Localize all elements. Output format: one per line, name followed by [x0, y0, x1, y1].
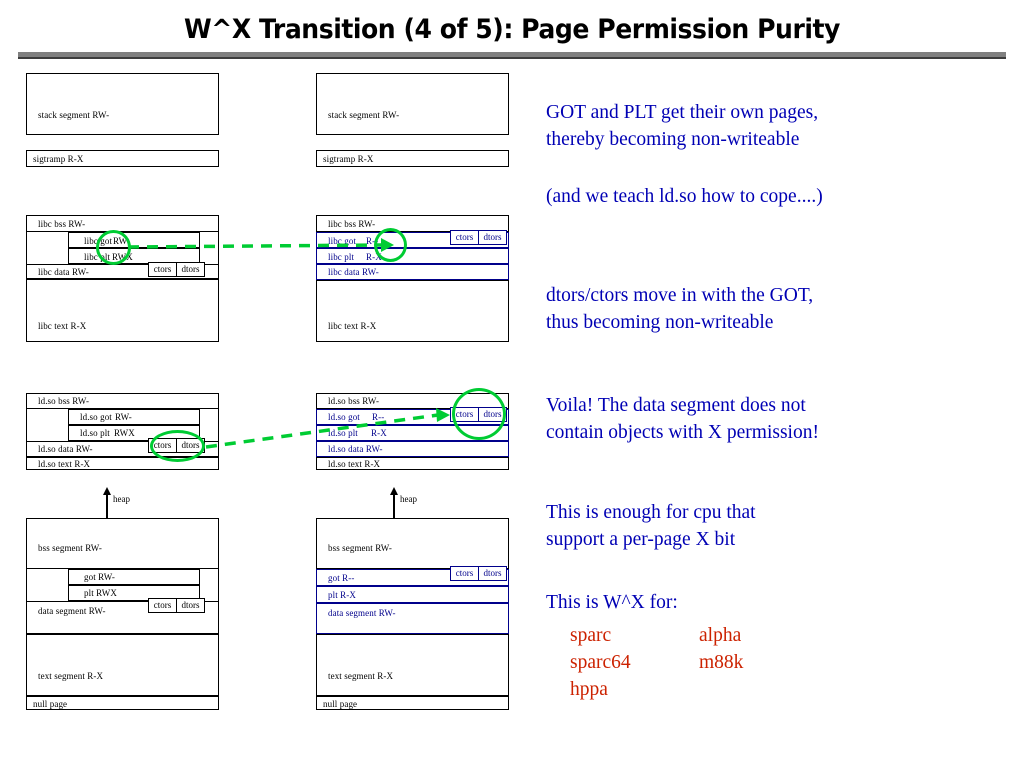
note-ldso: (and we teach ld.so how to cope....): [546, 183, 976, 210]
note-dtors-ctors: dtors/ctors move in with the GOT, thus b…: [546, 282, 976, 336]
arch-list-column-right: alpha m88k: [699, 622, 743, 676]
arch-list-column-left: sparc sparc64 hppa: [570, 622, 631, 703]
arrow-ldso-transition: [206, 408, 450, 447]
note-wx-for: This is W^X for:: [546, 589, 976, 616]
slide-canvas: W^X Transition (4 of 5): Page Permission…: [0, 0, 1024, 768]
note-cpu: This is enough for cpu that support a pe…: [546, 499, 976, 553]
note-got-plt: GOT and PLT get their own pages, thereby…: [546, 99, 976, 153]
note-voila: Voila! The data segment does not contain…: [546, 392, 976, 446]
arrow-libc-transition: [128, 238, 394, 252]
